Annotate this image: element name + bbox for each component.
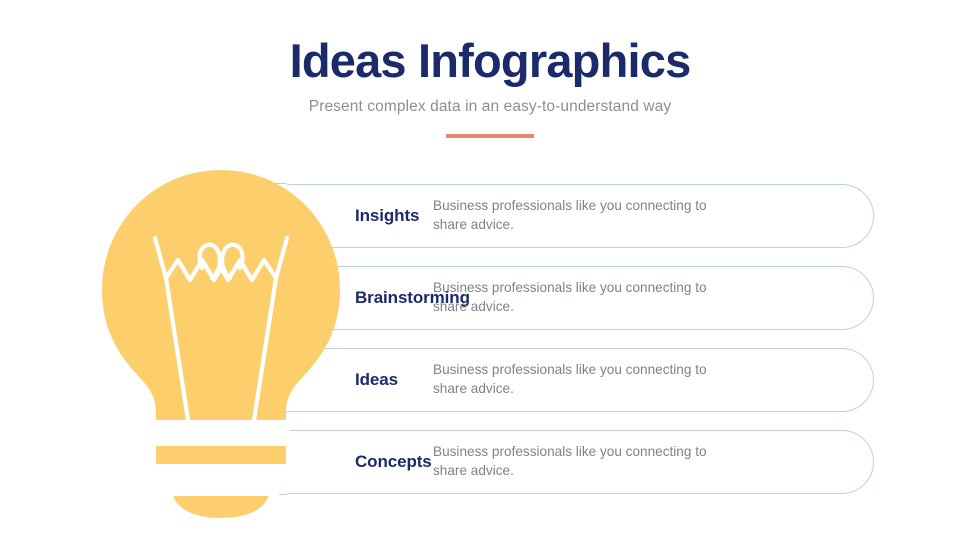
row-description: Business professionals like you connecti… xyxy=(429,279,773,317)
accent-divider xyxy=(446,134,534,138)
row-description: Business professionals like you connecti… xyxy=(429,361,773,399)
page-title: Ideas Infographics xyxy=(0,0,980,86)
slide-canvas: Ideas Infographics Present complex data … xyxy=(0,0,980,551)
page-subtitle: Present complex data in an easy-to-under… xyxy=(0,86,980,117)
row-description: Business professionals like you connecti… xyxy=(429,197,773,235)
slide-header: Ideas Infographics Present complex data … xyxy=(0,0,980,138)
row-description: Business professionals like you connecti… xyxy=(429,443,773,481)
light-bulb-icon xyxy=(96,168,346,520)
